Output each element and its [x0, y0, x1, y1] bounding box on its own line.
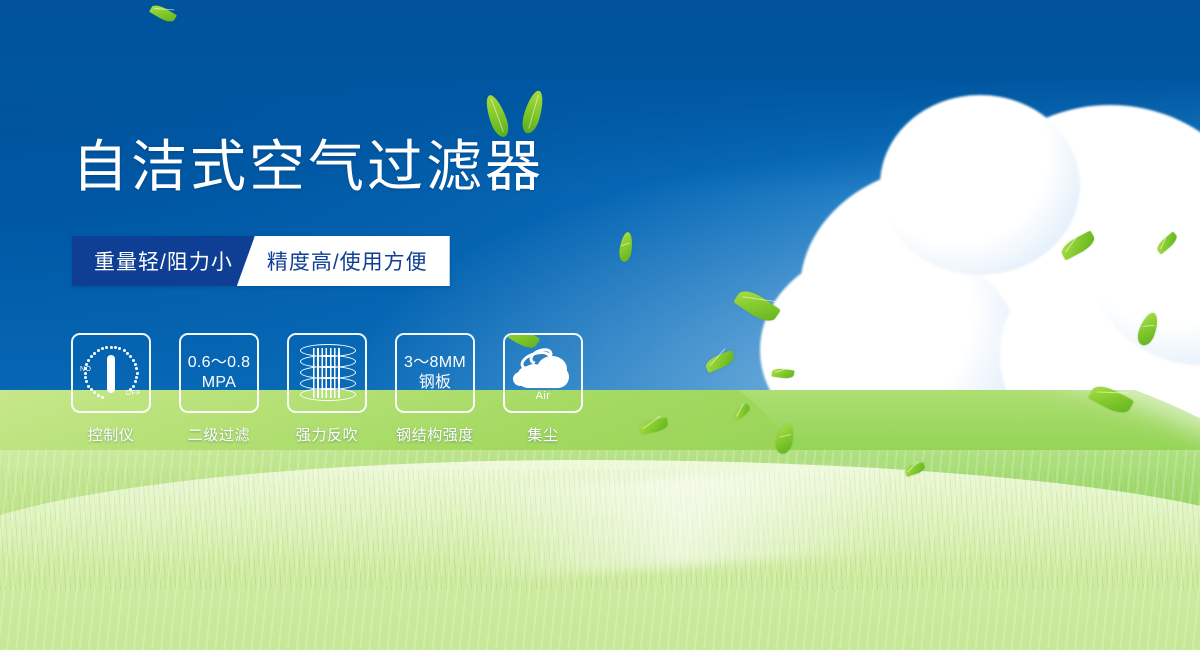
- feature-item-controller[interactable]: NO OFF 控制仪: [72, 333, 150, 445]
- banner-stage: 自洁式空气过滤器 重量轻/阻力小 精度高/使用方便 NO OFF 控制仪: [0, 0, 1200, 650]
- feature-label: 集尘: [527, 424, 558, 445]
- banner-content: 自洁式空气过滤器 重量轻/阻力小 精度高/使用方便 NO OFF 控制仪: [0, 0, 1200, 650]
- title-block: 自洁式空气过滤器: [72, 140, 544, 196]
- feature-label: 二级过滤: [188, 424, 250, 445]
- steel-material: 钢板: [404, 373, 466, 393]
- feature-item-filtration[interactable]: 0.6～0.8 MPA 二级过滤: [180, 333, 258, 445]
- steel-thickness: 3～8MM: [404, 353, 466, 373]
- cloud-air-icon: Air: [513, 348, 573, 398]
- feature-icon-box: Air: [503, 333, 583, 413]
- air-label: Air: [513, 390, 573, 402]
- feature-icon-box: NO OFF: [71, 333, 151, 413]
- title-leaf-pair-icon: [477, 88, 567, 150]
- feature-item-steel[interactable]: 3～8MM 钢板 钢结构强度: [396, 333, 474, 445]
- pressure-value: 0.6～0.8: [188, 353, 251, 373]
- feature-icon-box: 0.6～0.8 MPA: [179, 333, 259, 413]
- feature-icon-box: [287, 333, 367, 413]
- gauge-off-label: OFF: [126, 390, 142, 397]
- feature-label: 控制仪: [88, 424, 135, 445]
- subtitle-segment-right: 精度高/使用方便: [237, 236, 450, 286]
- subtitle-segment-left: 重量轻/阻力小: [72, 236, 253, 286]
- feature-label: 强力反吹: [296, 424, 358, 445]
- page-title: 自洁式空气过滤器: [72, 140, 544, 196]
- feature-icon-box: 3～8MM 钢板: [395, 333, 475, 413]
- steel-plate-icon: 3～8MM 钢板: [404, 353, 466, 392]
- feature-item-backblow[interactable]: 强力反吹: [288, 333, 366, 445]
- feature-label: 钢结构强度: [396, 424, 474, 445]
- feature-list: NO OFF 控制仪 0.6～0.8 MPA 二级过滤: [72, 333, 582, 445]
- filter-stack-icon: [300, 344, 354, 402]
- pressure-icon: 0.6～0.8 MPA: [188, 353, 251, 392]
- feature-item-dust[interactable]: Air 集尘: [504, 333, 582, 445]
- pressure-unit: MPA: [188, 373, 251, 393]
- subtitle-bar: 重量轻/阻力小 精度高/使用方便: [72, 236, 450, 286]
- gauge-icon: NO OFF: [80, 342, 142, 404]
